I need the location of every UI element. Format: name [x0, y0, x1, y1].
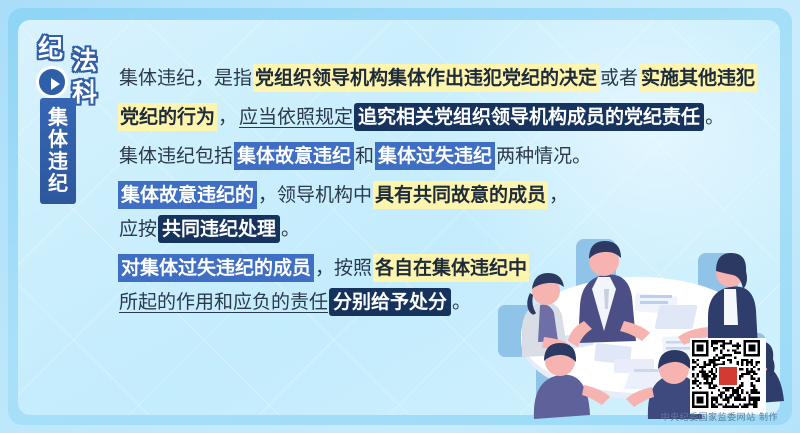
text-segment-plain: ，按照	[314, 255, 373, 281]
text-segment-plain: 集体违纪包括	[118, 143, 234, 169]
banner-char-3: 违	[40, 150, 76, 172]
text-segment-highlight-navy: 分别给予处分	[329, 288, 451, 316]
text-segment-plain: 。	[451, 289, 472, 315]
text-segment-highlight-blue: 对集体过失违纪的成员	[118, 254, 314, 282]
text-segment-highlight-navy: 追究相关党组织领导机构成员的党纪责任	[354, 103, 704, 131]
credit-text: 中央纪委国家监委网站 制作	[661, 410, 778, 423]
qr-code[interactable]	[690, 338, 766, 414]
text-segment-highlight-yellow: 具有共同故意的成员	[373, 181, 548, 209]
text-line-4: 集体故意违纪的，领导机构中具有共同故意的成员，	[118, 185, 718, 205]
text-segment-plain: 应按	[118, 216, 158, 242]
text-segment-underline: 应当依照规定	[238, 104, 354, 130]
text-segment-plain: 两种情况。	[495, 143, 592, 169]
banner-char-4: 纪	[40, 172, 76, 194]
text-line-2: 党纪的行为，应当依照规定追究相关党组织领导机构成员的党纪责任。	[118, 107, 718, 127]
play-icon	[36, 66, 68, 98]
text-segment-plain: ，	[217, 104, 238, 130]
logo-char-fa: 法	[72, 48, 97, 73]
text-segment-underline: 所起的作用和应负的责任	[118, 289, 329, 315]
text-segment-plain: ，	[548, 182, 569, 208]
vertical-title-banner: 集 体 违 纪	[40, 98, 76, 204]
text-segment-plain: ，领导机构中	[257, 182, 373, 208]
text-segment-highlight-yellow: 实施其他违犯	[639, 64, 757, 92]
text-segment-highlight-yellow: 党组织领导机构集体作出违犯党纪的决定	[253, 64, 599, 92]
text-line-1: 集体违纪，是指党组织领导机构集体作出违犯党纪的决定或者实施其他违犯	[118, 68, 718, 88]
logo-char-ji: 纪	[38, 36, 63, 61]
text-segment-highlight-yellow: 党纪的行为	[118, 103, 217, 131]
text-line-3: 集体违纪包括集体故意违纪和集体过失违纪两种情况。	[118, 146, 718, 166]
text-segment-plain: 或者	[599, 65, 639, 91]
text-segment-plain: 。	[704, 104, 725, 130]
text-segment-highlight-blue: 集体过失违纪	[375, 142, 495, 170]
qr-center-logo	[717, 365, 739, 387]
banner-char-2: 体	[40, 128, 76, 150]
text-segment-highlight-blue: 集体故意违纪	[234, 142, 354, 170]
text-segment-highlight-navy: 共同违纪处理	[158, 215, 280, 243]
text-segment-plain: 和	[354, 143, 375, 169]
text-segment-highlight-blue: 集体故意违纪的	[118, 181, 257, 209]
poster-root: 纪 法 百 科 集 体 违 纪 集体违纪，是指党组织领导机构集体作出违犯党纪的决…	[0, 0, 800, 433]
text-segment-plain: 集体违纪，是指	[118, 65, 253, 91]
text-segment-plain: 。	[280, 216, 301, 242]
banner-char-1: 集	[40, 106, 76, 128]
